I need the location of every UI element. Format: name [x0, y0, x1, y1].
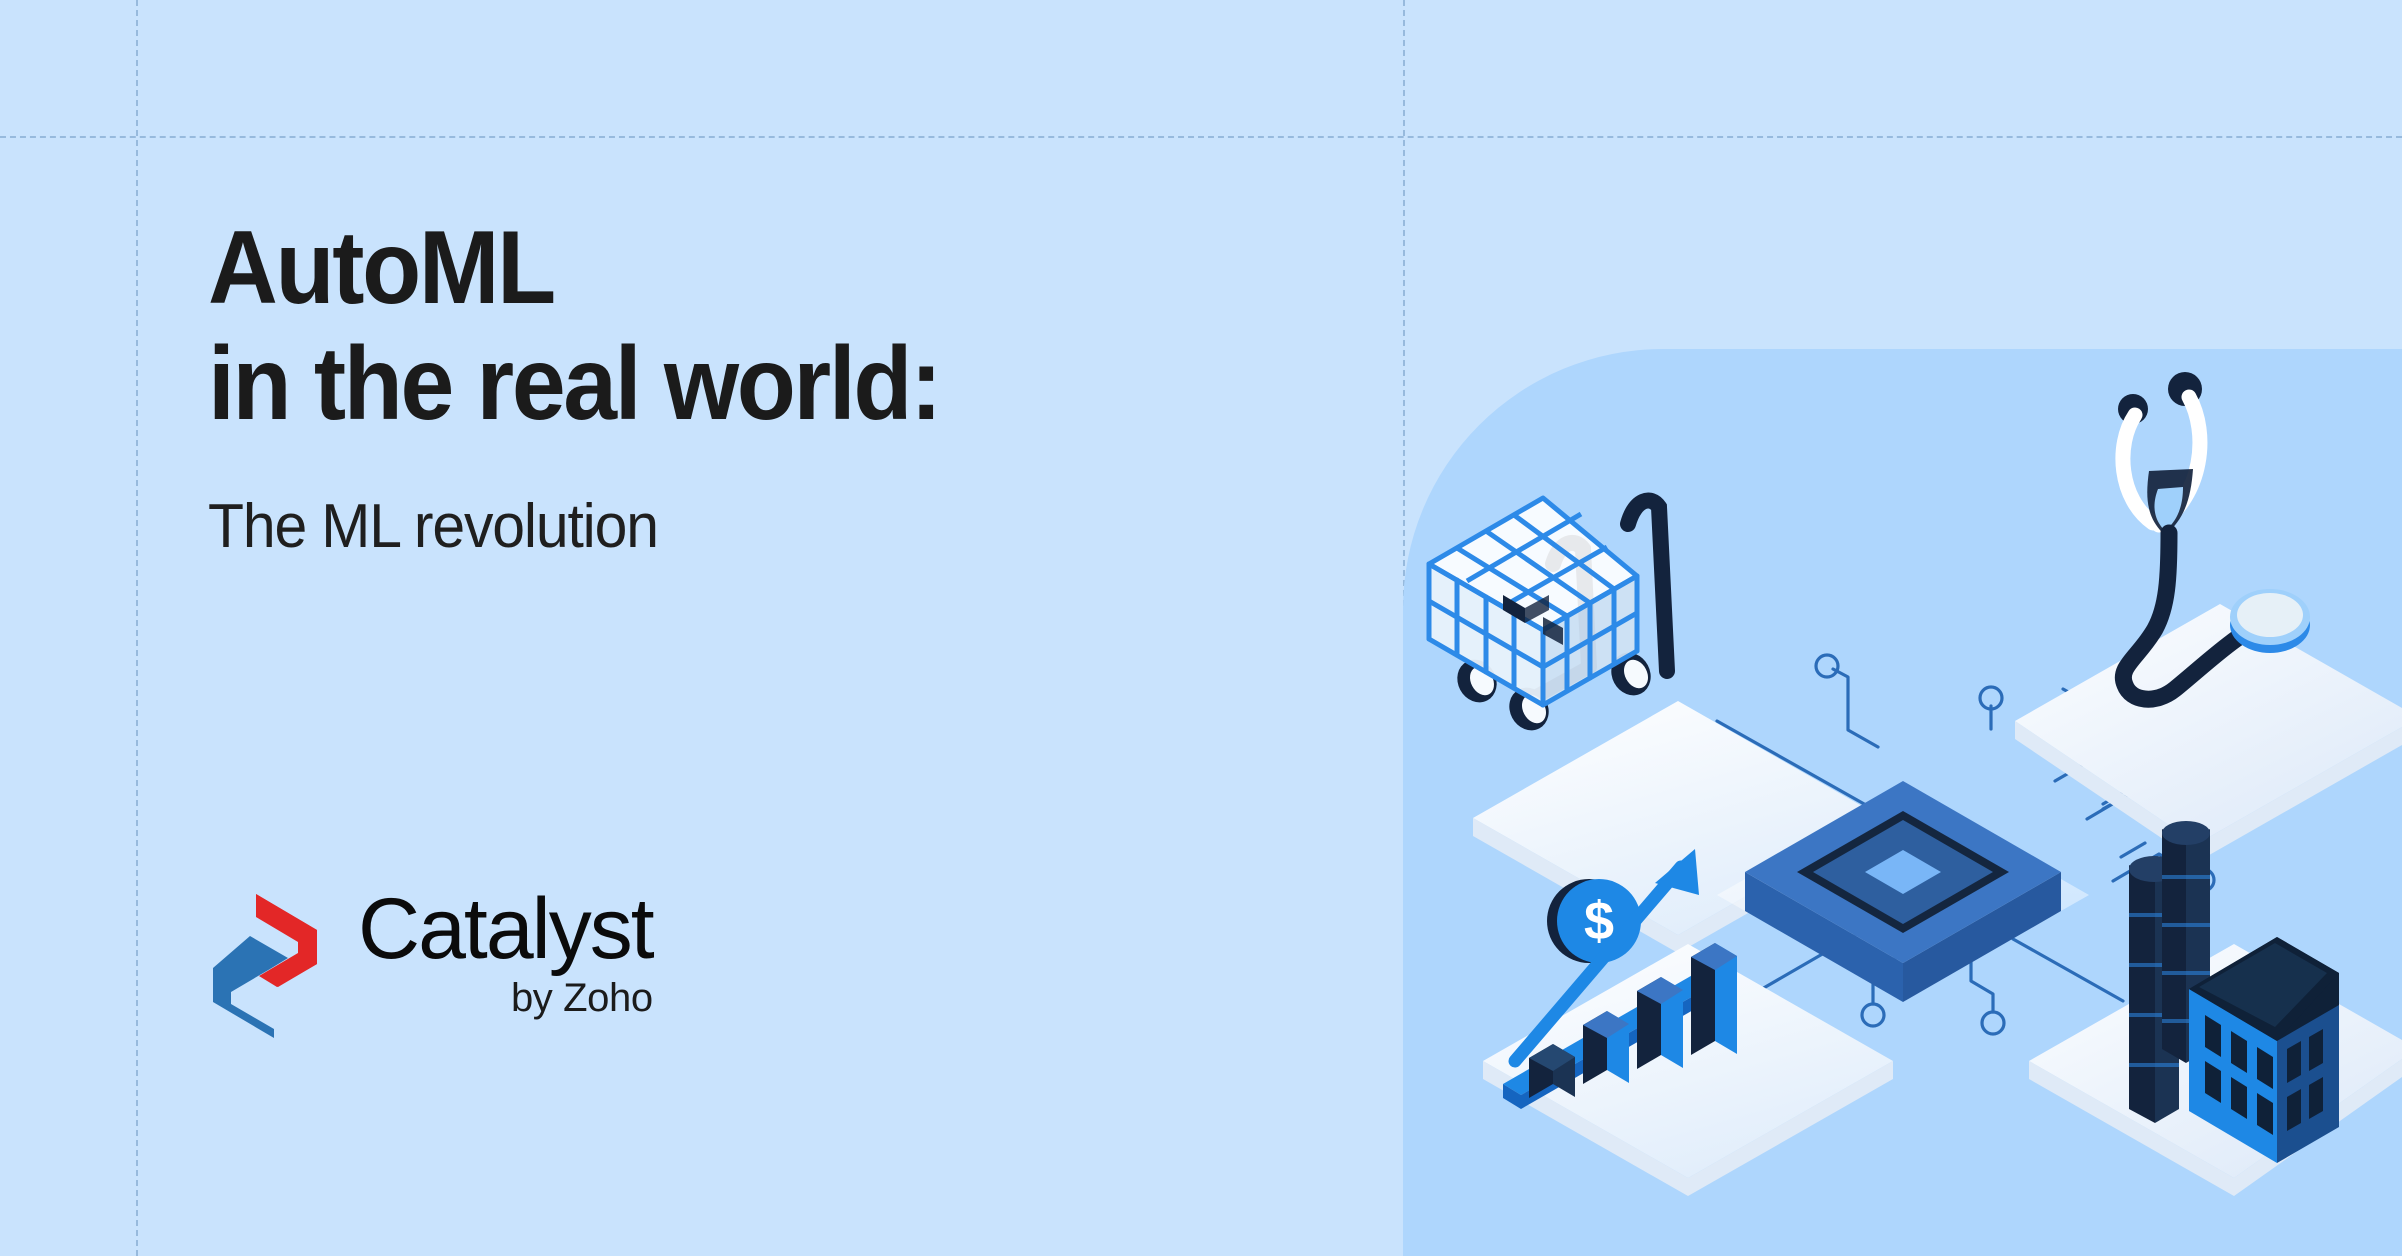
page-subtitle: The ML revolution	[208, 491, 1234, 562]
guide-line-vertical-left	[136, 0, 138, 1256]
catalyst-logo[interactable]: Catalyst by Zoho	[204, 886, 653, 1038]
brand-byline: by Zoho	[358, 976, 653, 1021]
automl-isometric-illustration: $	[1403, 349, 2402, 1256]
stethoscope-icon	[2118, 372, 2310, 699]
hero-banner: AutoML in the real world: The ML revolut…	[0, 0, 2402, 1256]
brand-name: Catalyst	[358, 886, 653, 974]
factory-icon	[2129, 821, 2339, 1163]
tile-healthcare	[2015, 604, 2402, 862]
catalyst-chevron-logo-icon	[204, 886, 326, 1038]
hero-copy: AutoML in the real world: The ML revolut…	[208, 210, 1288, 562]
catalyst-wordmark: Catalyst by Zoho	[358, 886, 653, 1021]
page-title: AutoML in the real world:	[208, 210, 1212, 443]
guide-line-horizontal-top	[0, 136, 2402, 138]
shopping-cart-icon	[1429, 498, 1667, 737]
